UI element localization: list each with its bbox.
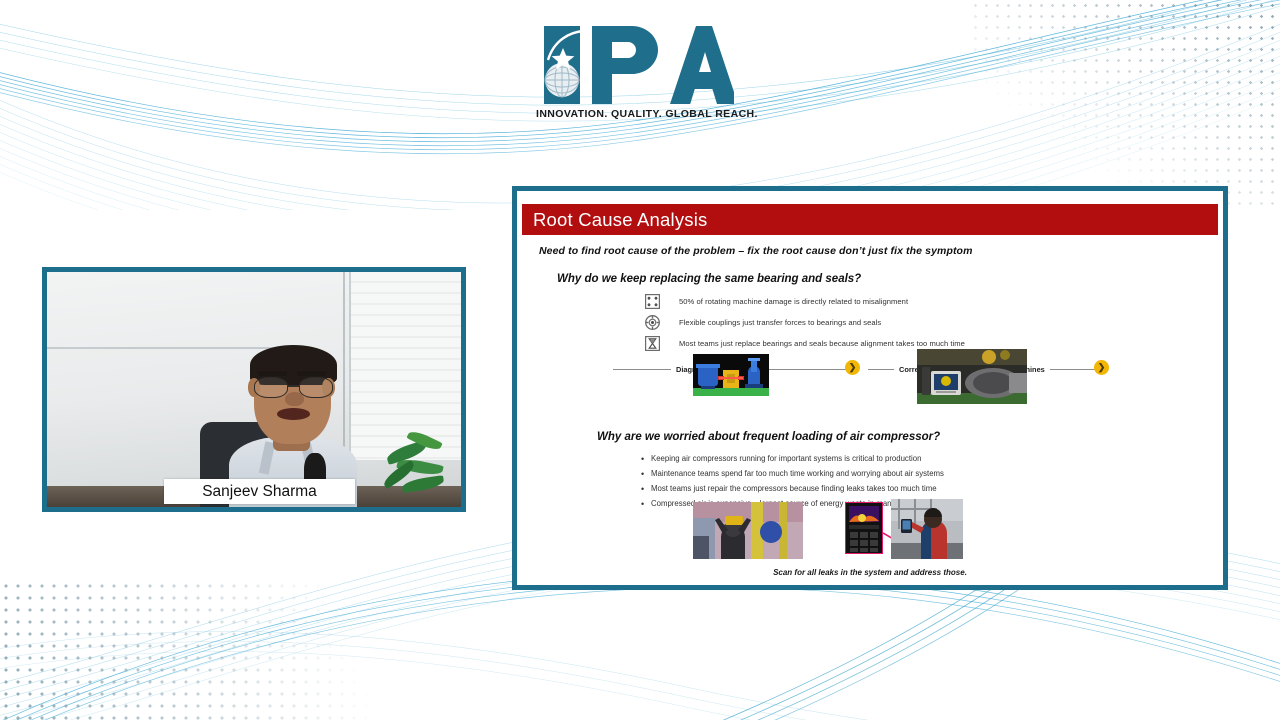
lens-left xyxy=(254,377,288,398)
bullet-dot-icon: • xyxy=(641,455,651,464)
point-row: 50% of rotating machine damage is direct… xyxy=(645,291,1223,312)
bullet-text: Maintenance teams spend far too much tim… xyxy=(651,470,944,479)
dot-grid-bottom-left xyxy=(0,580,400,720)
bullet-dot-icon: • xyxy=(641,470,651,479)
thermal-camera-device-photo xyxy=(845,502,883,554)
bullet-item: • Maintenance teams spend far too much t… xyxy=(641,470,1041,479)
lens-right xyxy=(299,377,333,398)
speaker-video-tile[interactable] xyxy=(42,267,466,512)
pump-coupling-diagram xyxy=(693,354,769,396)
coupling-flange-icon xyxy=(645,315,660,330)
point-text: Flexible couplings just transfer forces … xyxy=(679,318,881,327)
speaker-name-label: Sanjeev Sharma xyxy=(164,479,355,504)
worker-overhead-photo xyxy=(693,502,803,559)
dot-grid-top-right xyxy=(970,0,1280,205)
section1-points: 50% of rotating machine damage is direct… xyxy=(645,291,1223,354)
bullet-dot-icon: • xyxy=(641,500,651,509)
ipa-logo-mark xyxy=(538,24,734,106)
ipa-logo: INNOVATION. QUALITY. GLOBAL REACH. xyxy=(536,24,736,122)
chevron-right-icon: ❯ xyxy=(845,360,860,375)
bullet-item: • Most teams just repair the compressors… xyxy=(641,485,1041,494)
section2-question: Why are we worried about frequent loadin… xyxy=(597,431,940,443)
video-frame xyxy=(47,272,461,507)
hourglass-icon xyxy=(645,336,660,351)
speaker-nose xyxy=(285,392,304,406)
point-text: 50% of rotating machine damage is direct… xyxy=(679,297,908,306)
webinar-screen: INNOVATION. QUALITY. GLOBAL REACH. xyxy=(0,0,1280,720)
eyebrow-left xyxy=(258,371,287,375)
bullet-text: Keeping air compressors running for impo… xyxy=(651,455,921,464)
bullet-text: Most teams just repair the compressors b… xyxy=(651,485,937,494)
point-text: Most teams just replace bearings and sea… xyxy=(679,339,965,348)
office-plant xyxy=(378,422,457,502)
section1-question: Why do we keep replacing the same bearin… xyxy=(557,273,1223,285)
slide-title: Root Cause Analysis xyxy=(522,204,1218,235)
root-cause-flow: Diagnose the root cause ❯ Correct the ro… xyxy=(613,362,1113,376)
alignment-arrows-icon xyxy=(645,294,660,309)
point-row: Flexible couplings just transfer forces … xyxy=(645,312,1223,333)
slide-body: Need to find root cause of the problem –… xyxy=(517,239,1223,585)
bullet-item: • Keeping air compressors running for im… xyxy=(641,455,1041,464)
presentation-slide[interactable]: Root Cause Analysis Need to find root ca… xyxy=(512,186,1228,590)
technician-scanning-photo xyxy=(891,499,963,559)
eyebrow-right xyxy=(297,371,326,375)
speaker-mouth xyxy=(277,408,310,420)
glasses-bridge xyxy=(288,385,299,387)
slide-lead-statement: Need to find root cause of the problem –… xyxy=(539,245,1223,257)
section2-caption: Scan for all leaks in the system and add… xyxy=(517,568,1223,577)
laser-alignment-tool-photo xyxy=(917,349,1027,404)
bullet-dot-icon: • xyxy=(641,485,651,494)
chevron-right-icon: ❯ xyxy=(1094,360,1109,375)
logo-tagline: INNOVATION. QUALITY. GLOBAL REACH. xyxy=(536,108,736,120)
